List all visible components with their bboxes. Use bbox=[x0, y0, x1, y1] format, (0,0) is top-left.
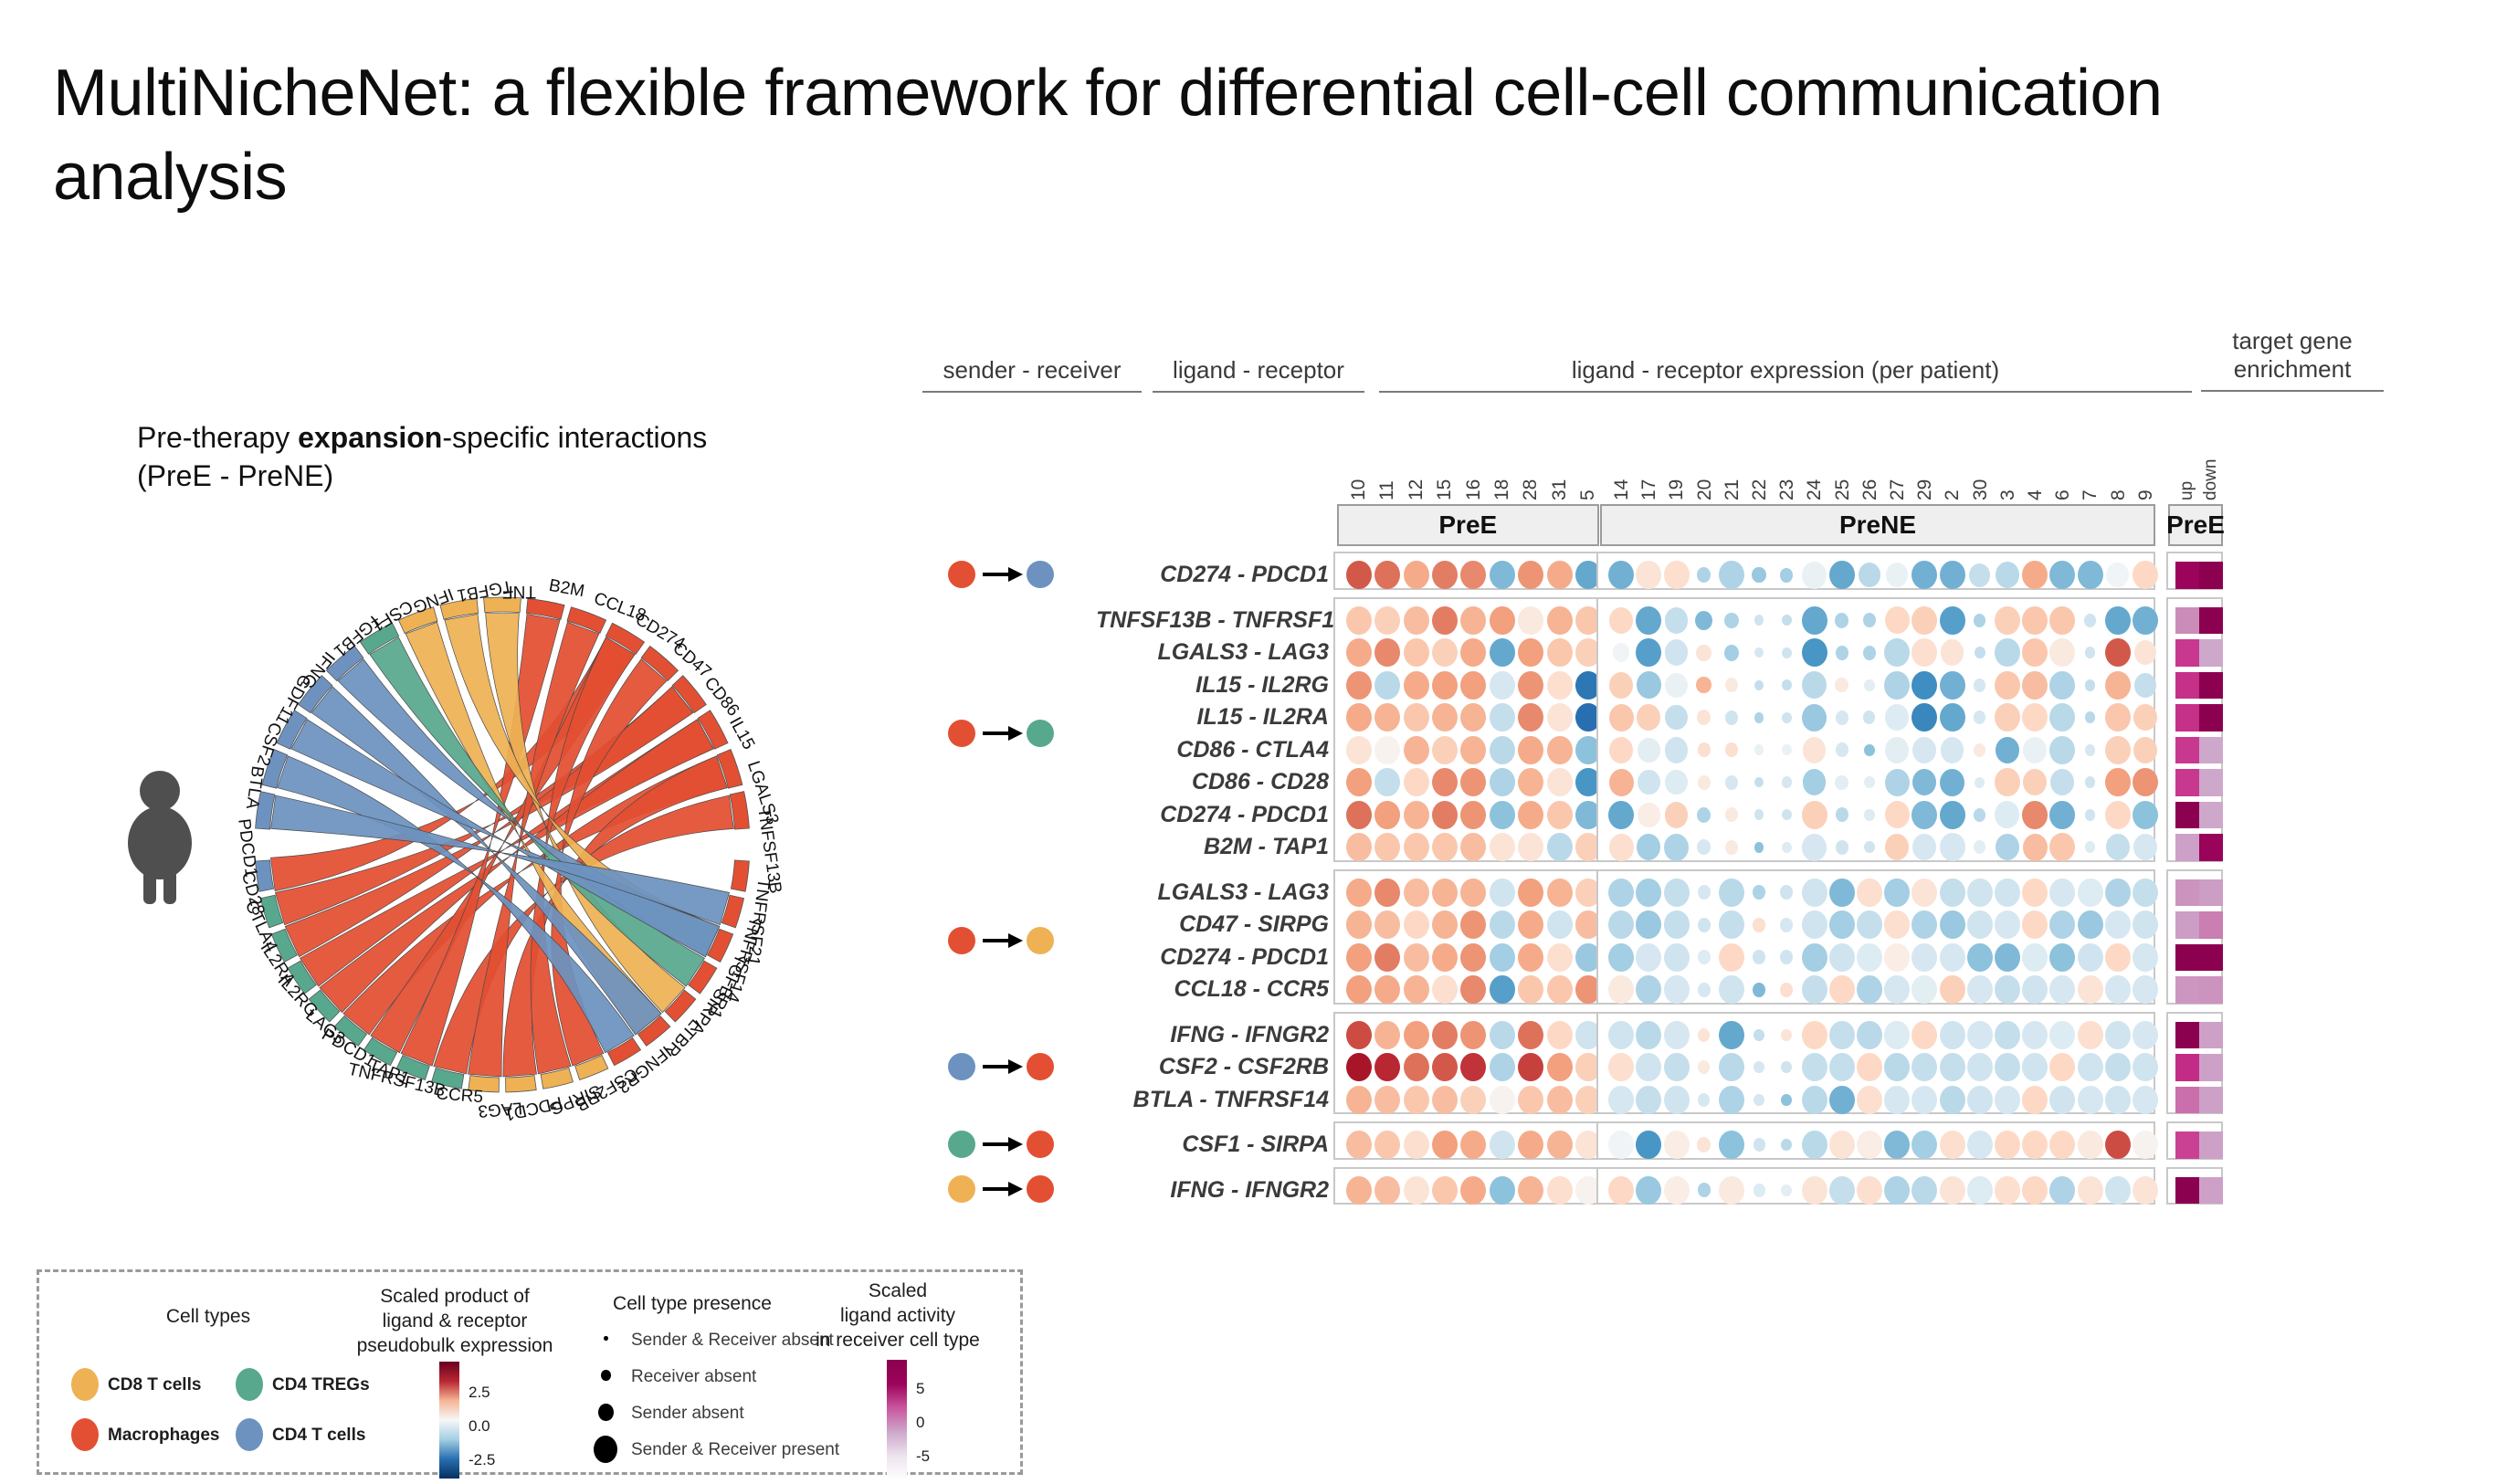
receiver-celltype-dot bbox=[1027, 1175, 1054, 1203]
patient-label-prene: 26 bbox=[1859, 446, 1881, 500]
expression-dot bbox=[2022, 638, 2048, 667]
expression-dot bbox=[1836, 710, 1848, 725]
expression-dot bbox=[1432, 1021, 1458, 1049]
expression-dot bbox=[1995, 1131, 2020, 1159]
expression-dot bbox=[2105, 768, 2131, 796]
expression-dot bbox=[1404, 768, 1429, 796]
expression-dot bbox=[1967, 975, 1993, 1004]
expression-dot bbox=[1374, 703, 1400, 731]
expression-dot bbox=[1719, 1021, 1744, 1049]
expression-dot bbox=[1754, 680, 1764, 690]
patient-label-prene: 7 bbox=[2080, 446, 2101, 500]
dot-block-pree bbox=[1333, 552, 1599, 590]
expression-dot bbox=[1940, 975, 1965, 1004]
chord-sector[interactable] bbox=[731, 860, 749, 891]
expression-dot bbox=[1374, 910, 1400, 939]
expression-dot bbox=[2022, 1086, 2048, 1114]
expression-dot bbox=[2022, 1021, 2048, 1049]
enrichment-cell bbox=[2175, 834, 2199, 861]
expression-dot bbox=[1940, 801, 1965, 829]
chord-title-post: -specific interactions bbox=[442, 421, 707, 454]
expression-dot bbox=[1885, 606, 1910, 634]
expression-dot bbox=[1490, 561, 1515, 589]
expression-dot bbox=[1696, 645, 1711, 661]
expression-dot bbox=[1864, 841, 1875, 853]
expression-dot bbox=[1547, 975, 1573, 1004]
expression-dot bbox=[1941, 737, 1964, 763]
legend-presence-dot bbox=[598, 1404, 614, 1422]
expression-dot bbox=[2049, 606, 2075, 635]
enrichment-cell bbox=[2175, 879, 2199, 907]
expression-dot bbox=[1518, 879, 1543, 907]
expression-dot bbox=[1608, 975, 1634, 1004]
sender-receiver-pair bbox=[922, 1047, 1087, 1084]
expression-dot bbox=[1490, 943, 1515, 972]
patient-label-prene: 17 bbox=[1638, 446, 1660, 500]
expression-dot bbox=[1664, 834, 1689, 861]
expression-dot bbox=[1664, 1176, 1690, 1205]
expression-dot bbox=[1698, 950, 1711, 964]
expression-dot bbox=[2049, 879, 2075, 907]
expression-colorbar bbox=[439, 1362, 459, 1479]
expression-dot bbox=[1940, 943, 1965, 972]
receiver-celltype-dot bbox=[1027, 927, 1054, 954]
expression-dot bbox=[2078, 1053, 2103, 1081]
expression-dot bbox=[2085, 776, 2096, 788]
expression-dot bbox=[1967, 879, 1993, 907]
expression-dot bbox=[1547, 561, 1573, 589]
expression-dot bbox=[1460, 910, 1486, 939]
expression-dot bbox=[1940, 1131, 1965, 1159]
enrichment-cell bbox=[2199, 1054, 2223, 1081]
expression-dot bbox=[1857, 879, 1882, 907]
expression-dot bbox=[1912, 737, 1936, 763]
receiver-celltype-dot bbox=[1027, 1053, 1054, 1080]
activity-tick: 0 bbox=[916, 1414, 924, 1432]
expression-dot bbox=[1404, 910, 1429, 939]
expression-dot bbox=[1782, 809, 1792, 820]
expression-dot bbox=[1911, 1176, 1937, 1205]
expression-dot bbox=[1884, 638, 1910, 667]
expression-dot bbox=[1346, 910, 1372, 939]
expression-dot bbox=[1802, 943, 1827, 972]
expression-dot bbox=[2133, 1053, 2158, 1081]
expression-dot bbox=[1719, 1086, 1744, 1114]
chord-sector-label: CCR5 bbox=[436, 1084, 484, 1107]
expression-dot bbox=[1995, 1021, 2020, 1049]
expression-dot bbox=[2106, 834, 2130, 860]
expression-dot bbox=[1885, 704, 1909, 731]
expression-dot bbox=[1638, 803, 1660, 827]
expression-dot bbox=[1346, 1053, 1372, 1081]
expression-dot bbox=[1609, 607, 1633, 634]
enrichment-cell bbox=[2175, 911, 2199, 939]
expression-dot bbox=[1940, 1053, 1965, 1081]
expression-dot bbox=[1863, 613, 1876, 627]
expression-dot bbox=[2105, 1131, 2131, 1159]
expression-dot bbox=[1802, 975, 1827, 1004]
expression-dot bbox=[2133, 1021, 2158, 1049]
row-label: IFNG - IFNGR2 bbox=[1096, 1177, 1329, 1204]
expression-dot bbox=[1696, 677, 1711, 693]
expression-dot bbox=[1754, 777, 1764, 787]
expression-dot bbox=[1698, 1060, 1710, 1074]
expression-dot bbox=[1724, 645, 1740, 661]
expression-dot bbox=[1995, 671, 2020, 700]
expression-dot bbox=[2085, 841, 2096, 853]
expression-dot bbox=[1857, 1131, 1882, 1159]
expression-dot bbox=[1664, 879, 1690, 907]
dot-block-prene bbox=[1596, 552, 2155, 590]
expression-dot bbox=[1518, 1086, 1543, 1114]
expression-dot bbox=[1835, 678, 1848, 692]
expression-dot bbox=[1754, 1138, 1765, 1152]
row-label: CD47 - SIRPG bbox=[1096, 911, 1329, 938]
legend-presence-label: Sender absent bbox=[631, 1404, 744, 1424]
expression-dot bbox=[1940, 561, 1965, 589]
expression-dot bbox=[1490, 833, 1515, 861]
dot-block-pree bbox=[1333, 1167, 1599, 1205]
expression-dot bbox=[2105, 703, 2131, 731]
expression-dot bbox=[1404, 943, 1429, 972]
expression-dot bbox=[1664, 1086, 1690, 1114]
row-label: LGALS3 - LAG3 bbox=[1096, 639, 1329, 666]
enrichment-cell bbox=[2175, 976, 2199, 1004]
expression-dot bbox=[1346, 943, 1372, 972]
expression-dot bbox=[1803, 769, 1827, 795]
expression-dot bbox=[1432, 736, 1458, 764]
chord-diagram: PDCD1CD28CTLA4IL2RAIL2RGLAG3PDCD1TAP1TNF… bbox=[201, 484, 895, 1205]
expression-dot bbox=[2049, 1176, 2075, 1205]
row-label: BTLA - TNFRSF14 bbox=[1096, 1087, 1329, 1113]
enrichment-cell bbox=[2199, 562, 2223, 589]
expression-dot bbox=[2078, 1176, 2103, 1205]
patient-label-prene: 23 bbox=[1776, 446, 1798, 500]
expression-dot bbox=[1664, 1131, 1690, 1159]
enrichment-cell bbox=[2199, 769, 2223, 796]
legend-celltype-dot bbox=[236, 1368, 263, 1401]
expression-dot bbox=[1864, 776, 1874, 788]
expression-dot bbox=[1432, 943, 1458, 972]
expression-dot bbox=[1547, 910, 1573, 939]
expression-dot bbox=[1404, 975, 1429, 1004]
patient-label-prene: 14 bbox=[1611, 446, 1633, 500]
patient-label-prene: 2 bbox=[1942, 446, 1964, 500]
row-label: IL15 - IL2RG bbox=[1096, 672, 1329, 699]
expression-dot bbox=[2084, 614, 2096, 627]
expression-dot bbox=[1404, 1053, 1429, 1081]
expression-dot bbox=[1636, 975, 1661, 1004]
expression-dot bbox=[1374, 801, 1400, 829]
chord-ribbons bbox=[270, 614, 733, 1077]
expression-dot bbox=[2105, 910, 2131, 939]
expression-dot bbox=[1885, 801, 1910, 828]
expression-dot bbox=[2050, 769, 2074, 795]
enrichment-cell bbox=[2175, 672, 2199, 700]
expression-dot bbox=[1863, 710, 1875, 724]
expression-dot bbox=[1346, 833, 1372, 861]
patient-label-prene: 27 bbox=[1887, 446, 1909, 500]
sender-celltype-dot bbox=[948, 927, 975, 954]
page-title: MultiNicheNet: a flexible framework for … bbox=[53, 51, 2391, 219]
expression-dot bbox=[1698, 775, 1711, 790]
enrichment-cell bbox=[2175, 639, 2199, 667]
expression-dot bbox=[1460, 561, 1486, 589]
expression-dot bbox=[1782, 679, 1792, 690]
expression-dot bbox=[1995, 606, 2020, 635]
expression-dot bbox=[1884, 943, 1910, 972]
dot-block-prene bbox=[1596, 869, 2155, 1005]
enrichment-cell bbox=[2175, 1177, 2199, 1205]
expression-dot bbox=[2105, 975, 2131, 1004]
expression-dot bbox=[1404, 833, 1429, 861]
chord-sector-label: B2M bbox=[547, 576, 585, 602]
expression-dot bbox=[1782, 776, 1792, 788]
patient-label-prene: 22 bbox=[1749, 446, 1771, 500]
expression-dot bbox=[2105, 1053, 2131, 1081]
dotplot-panel: sender - receiver ligand - receptor liga… bbox=[922, 338, 2466, 1233]
dot-block-pree bbox=[1333, 869, 1599, 1005]
expression-dot bbox=[1374, 1131, 1400, 1159]
expression-dot bbox=[1698, 742, 1711, 757]
expression-dot bbox=[1940, 1176, 1965, 1205]
expression-dot bbox=[1754, 1061, 1764, 1073]
expression-dot bbox=[1802, 1053, 1827, 1081]
row-label: CSF1 - SIRPA bbox=[1096, 1131, 1329, 1158]
patient-label-prene: 6 bbox=[2052, 446, 2074, 500]
expression-dot bbox=[2085, 647, 2096, 658]
expression-dot bbox=[1490, 1053, 1515, 1081]
expression-dot bbox=[1665, 737, 1689, 763]
expression-dot bbox=[2022, 910, 2048, 939]
expression-dot bbox=[2078, 910, 2103, 939]
expression-dot bbox=[1754, 1094, 1764, 1106]
expression-dot bbox=[1404, 1131, 1429, 1159]
expression-dot bbox=[2022, 975, 2048, 1004]
expression-dot bbox=[1460, 801, 1486, 829]
expression-dot bbox=[1995, 1176, 2020, 1205]
receiver-celltype-dot bbox=[1027, 720, 1054, 747]
expression-dot bbox=[2049, 943, 2075, 972]
expression-dot bbox=[2085, 711, 2096, 723]
expression-dot bbox=[1802, 606, 1827, 635]
expression-dot bbox=[1911, 1131, 1937, 1159]
expression-dot bbox=[1969, 563, 1990, 587]
expression-dot bbox=[1782, 712, 1792, 723]
expression-dot bbox=[2133, 975, 2158, 1004]
enrichment-cell bbox=[2175, 944, 2199, 972]
expression-dot bbox=[1638, 738, 1660, 763]
expression-dot bbox=[1346, 1131, 1372, 1159]
expression-dot bbox=[2023, 834, 2048, 861]
chord-sector-label: LGALS3 bbox=[743, 759, 783, 827]
enrichment-block bbox=[2166, 869, 2223, 1005]
expression-dot bbox=[1547, 1021, 1573, 1049]
expression-dot bbox=[1974, 840, 1985, 854]
expression-dot bbox=[2105, 671, 2131, 700]
expression-dot bbox=[1374, 1176, 1400, 1205]
enrichment-cell bbox=[2175, 1054, 2199, 1081]
expression-dot bbox=[1780, 950, 1793, 964]
expression-dot bbox=[2049, 638, 2075, 667]
expression-dot bbox=[1754, 712, 1764, 723]
expression-dot bbox=[2049, 975, 2075, 1004]
expression-dot bbox=[1719, 879, 1744, 907]
expression-dot bbox=[1974, 679, 1985, 692]
patient-label-prene: 3 bbox=[1997, 446, 2019, 500]
expression-dot bbox=[1490, 910, 1515, 939]
expression-dot bbox=[1863, 646, 1876, 660]
expression-dot bbox=[1490, 1131, 1515, 1159]
expression-dot bbox=[1829, 910, 1855, 939]
expression-dot bbox=[1608, 1176, 1634, 1205]
expression-dot bbox=[2022, 1131, 2048, 1159]
chord-title-pre: Pre-therapy bbox=[137, 421, 298, 454]
expression-dot bbox=[1609, 704, 1634, 731]
arrow-icon bbox=[983, 1057, 1023, 1077]
expression-dot bbox=[1518, 975, 1543, 1004]
chord-sector[interactable] bbox=[506, 1076, 537, 1092]
expression-dot bbox=[1609, 769, 1634, 796]
expression-dot bbox=[1911, 1053, 1937, 1081]
expression-dot bbox=[1518, 638, 1543, 667]
expression-dot bbox=[1996, 562, 2019, 588]
expression-dot bbox=[1404, 671, 1429, 700]
chord-diagram-panel: Pre-therapy expansion-specific interacti… bbox=[110, 402, 913, 1224]
legend-activity-title: Scaled ligand activity in receiver cell … bbox=[788, 1279, 1007, 1353]
row-label: CD86 - CD28 bbox=[1096, 769, 1329, 795]
expression-dot bbox=[1547, 1053, 1573, 1081]
expression-dot bbox=[1754, 615, 1764, 626]
header-ligand-receptor: ligand - receptor bbox=[1153, 356, 1364, 393]
legend-celltype-label: Macrophages bbox=[108, 1426, 219, 1446]
expression-dot bbox=[1940, 703, 1965, 731]
expression-dot bbox=[1432, 801, 1458, 829]
expression-dot bbox=[1490, 1021, 1515, 1049]
legend-presence-dot bbox=[594, 1436, 617, 1463]
enrichment-cell bbox=[2199, 639, 2223, 667]
row-label: B2M - TAP1 bbox=[1096, 834, 1329, 860]
expression-dot bbox=[1518, 833, 1543, 861]
legend-celltype-dot bbox=[71, 1368, 99, 1401]
expression-dot bbox=[1974, 743, 1985, 757]
expression-dot bbox=[1752, 567, 1765, 583]
row-label: TNFSF13B - TNFRSF13B bbox=[1096, 607, 1329, 634]
expression-dot bbox=[1460, 1021, 1486, 1049]
expression-dot bbox=[1857, 1053, 1882, 1081]
enrichment-cell bbox=[2175, 1131, 2199, 1159]
expression-dot bbox=[1725, 678, 1739, 692]
expression-dot bbox=[2133, 801, 2158, 829]
expression-dot bbox=[1719, 1053, 1744, 1081]
expression-dot bbox=[1780, 568, 1793, 583]
patient-label-pree: 16 bbox=[1463, 446, 1485, 500]
expression-dot bbox=[1547, 703, 1573, 731]
expression-dot bbox=[1490, 879, 1515, 907]
expression-dot bbox=[1835, 775, 1848, 790]
expression-dot bbox=[1859, 563, 1881, 587]
expression-dot bbox=[1432, 606, 1458, 635]
expression-dot bbox=[1636, 1086, 1661, 1114]
expression-dot bbox=[1829, 1131, 1855, 1159]
expression-dot bbox=[1665, 770, 1688, 795]
enrichment-cell bbox=[2175, 607, 2199, 635]
expression-dot bbox=[1432, 879, 1458, 907]
expression-dot bbox=[1547, 768, 1573, 796]
patient-label-prene: 19 bbox=[1666, 446, 1688, 500]
expression-dot bbox=[1996, 834, 2019, 860]
expression-dot bbox=[1404, 606, 1429, 635]
expression-dot bbox=[1490, 736, 1515, 764]
expression-dot bbox=[1754, 1029, 1764, 1041]
expression-dot bbox=[1547, 606, 1573, 635]
expression-dot bbox=[1518, 943, 1543, 972]
expression-dot bbox=[1547, 671, 1573, 700]
expression-tick: 2.5 bbox=[469, 1384, 490, 1402]
patient-label-prene: 8 bbox=[2108, 446, 2130, 500]
expression-dot bbox=[1460, 1086, 1486, 1114]
expression-dot bbox=[2134, 640, 2157, 665]
expression-dot bbox=[1608, 801, 1634, 829]
expression-dot bbox=[2022, 703, 2048, 731]
expression-dot bbox=[1636, 1176, 1661, 1205]
expression-dot bbox=[1404, 736, 1429, 764]
expression-dot bbox=[2105, 1086, 2131, 1114]
expression-dot bbox=[2049, 671, 2075, 700]
expression-dot bbox=[1490, 768, 1515, 796]
expression-dot bbox=[1460, 1053, 1486, 1081]
expression-dot bbox=[1829, 561, 1855, 589]
enrichment-block bbox=[2166, 1012, 2223, 1115]
expression-dot bbox=[1911, 561, 1937, 589]
expression-dot bbox=[2049, 561, 2075, 589]
patient-label-pree: 5 bbox=[1577, 446, 1599, 500]
expression-dot bbox=[1912, 769, 1936, 795]
expression-dot bbox=[1346, 703, 1372, 731]
expression-dot bbox=[1967, 1053, 1993, 1081]
expression-dot bbox=[1802, 1131, 1827, 1159]
expression-dot bbox=[2023, 769, 2047, 795]
expression-dot bbox=[1780, 918, 1793, 932]
expression-dot bbox=[1780, 885, 1793, 900]
expression-dot bbox=[1636, 561, 1661, 589]
expression-dot bbox=[1884, 1131, 1910, 1159]
row-label: CD274 - PDCD1 bbox=[1096, 562, 1329, 588]
expression-dot bbox=[1698, 1028, 1710, 1042]
expression-dot bbox=[2133, 704, 2157, 731]
expression-dot bbox=[2133, 943, 2158, 972]
sender-celltype-dot bbox=[948, 720, 975, 747]
expression-dot bbox=[1836, 807, 1848, 822]
expression-dot bbox=[1802, 910, 1827, 939]
expression-dot bbox=[1608, 1086, 1634, 1114]
patient-label-prene: 4 bbox=[2025, 446, 2047, 500]
expression-dot bbox=[1995, 1086, 2020, 1114]
expression-dot bbox=[1782, 842, 1792, 853]
expression-dot bbox=[1374, 1021, 1400, 1049]
expression-dot bbox=[2085, 744, 2096, 756]
expression-dot bbox=[1346, 671, 1372, 700]
expression-dot bbox=[1719, 910, 1744, 939]
legend-presence-dot bbox=[601, 1370, 611, 1382]
expression-tick: 0.0 bbox=[469, 1417, 490, 1436]
row-label: CSF2 - CSF2RB bbox=[1096, 1054, 1329, 1080]
expression-dot bbox=[1665, 639, 1689, 666]
expression-dot bbox=[1518, 703, 1543, 731]
sender-receiver-pair bbox=[922, 1125, 1087, 1162]
expression-dot bbox=[1829, 975, 1855, 1004]
sender-celltype-dot bbox=[948, 1175, 975, 1203]
